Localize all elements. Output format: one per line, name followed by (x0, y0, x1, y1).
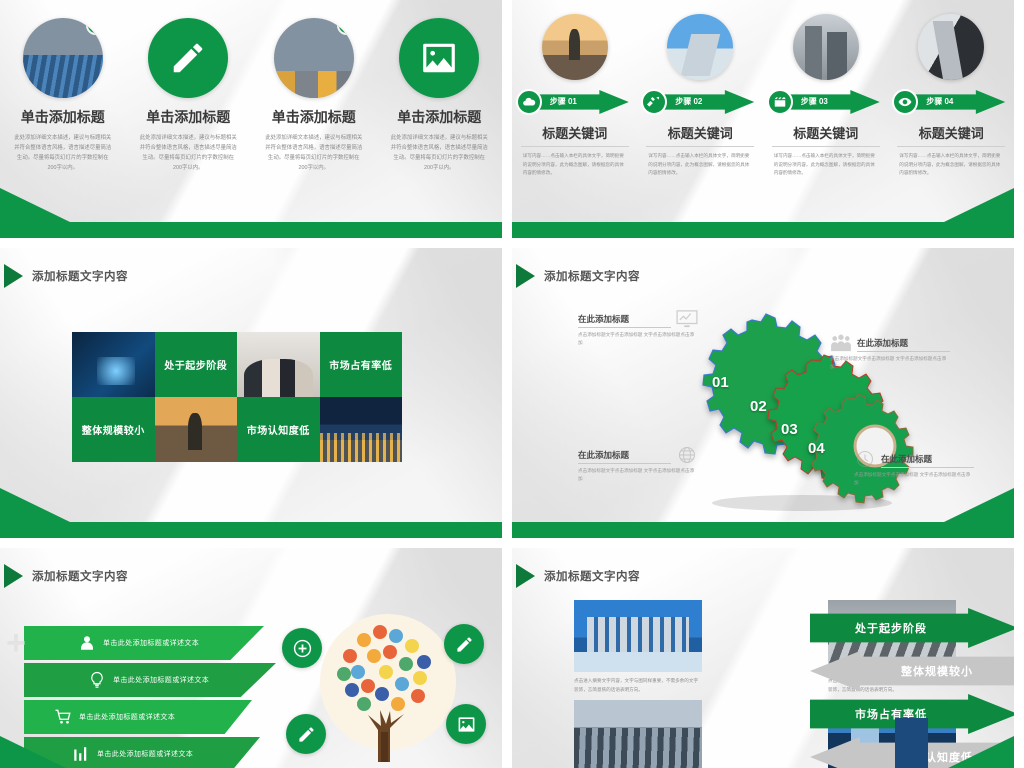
left-column: 点击进入摘要文字内容，文字与图同样重要，不需多余的文字装饰，言简意赅的话语表明方… (574, 600, 702, 768)
bar-label: 单击此处添加标题或详述文本 (79, 712, 175, 722)
divider (897, 146, 1005, 147)
person-icon (78, 634, 96, 652)
slide-5-bars-tree[interactable]: 添加标题文字内容 单击此处添加标题或详述文本 单击此处添加标题或详述文本 单击此… (0, 548, 502, 768)
gear-label-top-right[interactable]: 在此添加标题 点击添加标题文字点击添加标题 文字点击添加标题点击添加 (830, 334, 950, 372)
bar-label: 单击此处添加标题或详述文本 (113, 675, 209, 685)
page-title: 添加标题文字内容 (544, 268, 640, 284)
divider (646, 146, 754, 147)
photo-skyscrapers[interactable] (793, 14, 859, 80)
bar-item-4[interactable]: 单击此处添加标题或详述文本 (24, 737, 260, 768)
circle-title: 单击添加标题 (397, 107, 481, 127)
circle-body: 此处添加详细文本描述，建议与标题相关并符合整体语言风格，语言描述尽量简洁生动。尽… (264, 133, 364, 173)
badge-number: 2 (337, 18, 354, 35)
step-body: 详写内容……点击输入本栏的具体文字，简明扼要的说明分项内容，此为概念图解，请根据… (648, 152, 752, 178)
eye-icon (892, 89, 918, 115)
step-body: 详写内容……点击输入本栏的具体文字，简明扼要的说明分项内容，此为概念图解，请根据… (523, 152, 627, 178)
photo-night-city[interactable] (320, 397, 403, 462)
clapper-icon (767, 89, 793, 115)
step-body: 详写内容……点击输入本栏的具体文字，简明扼要的说明分项内容，此为概念图解，请根据… (899, 152, 1003, 178)
footer-bar (512, 522, 1014, 538)
step-title: 标题关键词 (542, 123, 607, 142)
pencil-icon[interactable] (444, 624, 484, 664)
step-arrow[interactable]: 步骤 02 (641, 87, 759, 117)
arrow-startup-stage[interactable]: 处于起步阶段 (810, 608, 1014, 648)
bulb-icon (88, 671, 106, 689)
pencil-icon[interactable] (286, 714, 326, 754)
bar-label: 单击此处添加标题或详述文本 (103, 638, 199, 648)
plus-mark: + (6, 626, 26, 660)
image-icon[interactable] (399, 18, 479, 98)
triangle-icon (4, 564, 23, 588)
step-body: 详写内容……点击输入本栏的具体文字，简明扼要的说明分项内容，此为概念图解，请根据… (774, 152, 878, 178)
photo-modern-building[interactable] (667, 14, 733, 80)
footer-bar (0, 222, 502, 238)
tile-startup-stage[interactable]: 处于起步阶段 (155, 332, 238, 397)
gear-label-title: 在此添加标题 (578, 449, 671, 464)
step-arrow[interactable]: 步骤 03 (767, 87, 885, 117)
gear-label-bottom-right[interactable]: 在此添加标题 点击添加标题文字点击添加标题 文字点击添加标题点击添加 (854, 450, 974, 488)
globe-icon (676, 446, 698, 464)
circle-body: 此处添加详细文本描述，建议与标题相关并符合整体语言风格，语言描述尽量简洁生动。尽… (138, 133, 238, 173)
step-title: 标题关键词 (919, 123, 984, 142)
bar-item-2[interactable]: 单击此处添加标题或详述文本 (24, 663, 276, 697)
gear-label-body: 点击添加标题文字点击添加标题 文字点击添加标题点击添加 (854, 471, 974, 488)
circle-item-4[interactable]: 单击添加标题 此处添加详细文本描述，建议与标题相关并符合整体语言风格，语言描述尽… (377, 18, 503, 173)
people-group-icon (830, 334, 852, 352)
slide-title-block: 添加标题文字内容 (12, 564, 128, 588)
step-row: 步骤 01 标题关键词 详写内容……点击输入本栏的具体文字，简明扼要的说明分项内… (512, 14, 1014, 178)
gear-label-title: 在此添加标题 (881, 453, 974, 468)
cart-icon (54, 708, 72, 726)
footer-bar (0, 522, 502, 538)
slide-4-gears[interactable]: 添加标题文字内容 (512, 248, 1014, 538)
page-title: 添加标题文字内容 (32, 568, 128, 584)
step-item-1[interactable]: 步骤 01 标题关键词 详写内容……点击输入本栏的具体文字，简明扼要的说明分项内… (512, 14, 638, 178)
step-item-2[interactable]: 步骤 02 标题关键词 详写内容……点击输入本栏的具体文字，简明扼要的说明分项内… (638, 14, 764, 178)
step-label: 步骤 04 (926, 96, 953, 107)
triangle-icon (516, 264, 535, 288)
step-label: 步骤 01 (550, 96, 577, 107)
slide-title-block: 添加标题文字内容 (12, 264, 128, 288)
tree-illustration (286, 610, 476, 760)
step-item-4[interactable]: 步骤 04 标题关键词 详写内容……点击输入本栏的具体文字，简明扼要的说明分项内… (889, 14, 1015, 178)
divider (521, 146, 629, 147)
step-label: 步骤 03 (801, 96, 828, 107)
slide-1-four-circles[interactable]: 1 单击添加标题 此处添加详细文本描述，建议与标题相关并符合整体语言风格，语言描… (0, 0, 502, 238)
mosaic-grid: 处于起步阶段 市场占有率低 整体规模较小 市场认知度低 (72, 332, 402, 462)
plus-icon[interactable] (282, 628, 322, 668)
tile-small-scale[interactable]: 整体规模较小 (72, 397, 155, 462)
circle-body: 此处添加详细文本描述，建议与标题相关并符合整体语言风格，语言描述尽量简洁生动。尽… (13, 133, 113, 173)
bar-list: 单击此处添加标题或详述文本 单击此处添加标题或详述文本 单击此处添加标题或详述文… (24, 626, 272, 768)
clock-icon (854, 450, 876, 468)
photo-station-roof[interactable] (574, 700, 702, 768)
photo-street[interactable]: 2 (274, 18, 354, 98)
circle-title: 单击添加标题 (21, 107, 105, 127)
gear-label-body: 点击添加标题文字点击添加标题 文字点击添加标题点击添加 (578, 331, 698, 348)
step-item-3[interactable]: 步骤 03 标题关键词 详写内容……点击输入本栏的具体文字，简明扼要的说明分项内… (763, 14, 889, 178)
photo-tower-bw[interactable] (918, 14, 984, 80)
tile-low-awareness[interactable]: 市场认知度低 (237, 397, 320, 462)
footer-bar (512, 222, 1014, 238)
pencil-icon[interactable] (148, 18, 228, 98)
gear-label-top-left[interactable]: 在此添加标题 点击添加标题文字点击添加标题 文字点击添加标题点击添加 (578, 310, 698, 348)
slide-6-comparison-arrows[interactable]: 添加标题文字内容 点击进入摘要文字内容，文字与图同样重要，不需多余的文字装饰，言… (512, 548, 1014, 768)
gear-label-body: 点击添加标题文字点击添加标题 文字点击添加标题点击添加 (830, 355, 950, 372)
circle-title: 单击添加标题 (146, 107, 230, 127)
circle-item-2[interactable]: 单击添加标题 此处添加详细文本描述，建议与标题相关并符合整体语言风格，语言描述尽… (126, 18, 252, 173)
circle-item-1[interactable]: 1 单击添加标题 此处添加详细文本描述，建议与标题相关并符合整体语言风格，语言描… (0, 18, 126, 173)
bar-label: 单击此处添加标题或详述文本 (97, 749, 193, 759)
gear-number-03: 03 (781, 421, 798, 438)
step-title: 标题关键词 (668, 123, 733, 142)
circle-title: 单击添加标题 (272, 107, 356, 127)
page-title: 添加标题文字内容 (544, 568, 640, 584)
slide-2-four-steps[interactable]: 步骤 01 标题关键词 详写内容……点击输入本栏的具体文字，简明扼要的说明分项内… (512, 0, 1014, 238)
photo-solar-panel[interactable]: 1 (23, 18, 103, 98)
tile-low-market-share[interactable]: 市场占有率低 (320, 332, 403, 397)
satellite-icon (641, 89, 667, 115)
photo-man-arms-open[interactable] (155, 397, 238, 462)
gear-label-title: 在此添加标题 (857, 337, 950, 352)
cloud-icon (516, 89, 542, 115)
step-title: 标题关键词 (793, 123, 858, 142)
slide-thumbnail-sheet: 1 单击添加标题 此处添加详细文本描述，建议与标题相关并符合整体语言风格，语言描… (0, 0, 1024, 768)
page-title: 添加标题文字内容 (32, 268, 128, 284)
monitor-chart-icon (676, 310, 698, 328)
left-body-1: 点击进入摘要文字内容，文字与图同样重要，不需多余的文字装饰，言简意赅的话语表明方… (574, 677, 702, 694)
bar-item-1[interactable]: 单击此处添加标题或详述文本 (24, 626, 264, 660)
step-arrow[interactable]: 步骤 01 (516, 87, 634, 117)
bar-item-3[interactable]: 单击此处添加标题或详述文本 (24, 700, 252, 734)
arrow-small-scale[interactable]: 整体规模较小 (810, 651, 1014, 691)
circle-body: 此处添加详细文本描述，建议与标题相关并符合整体语言风格，语言描述尽量简洁生动。尽… (389, 133, 489, 173)
gear-number-01: 01 (712, 374, 729, 391)
circle-row: 1 单击添加标题 此处添加详细文本描述，建议与标题相关并符合整体语言风格，语言描… (0, 18, 502, 173)
slide-title-block: 添加标题文字内容 (524, 264, 640, 288)
step-arrow[interactable]: 步骤 04 (892, 87, 1010, 117)
badge-number: 1 (86, 18, 103, 35)
image-icon[interactable] (446, 704, 486, 744)
photo-marina-skyline[interactable] (574, 600, 702, 672)
slide-3-image-mosaic[interactable]: 添加标题文字内容 处于起步阶段 市场占有率低 整体规模较小 市场认知度低 (0, 248, 502, 538)
gear-number-04: 04 (808, 440, 825, 457)
circle-item-3[interactable]: 2 单击添加标题 此处添加详细文本描述，建议与标题相关并符合整体语言风格，语言描… (251, 18, 377, 173)
chart-icon (72, 745, 90, 763)
step-label: 步骤 02 (675, 96, 702, 107)
gear-label-body: 点击添加标题文字点击添加标题 文字点击添加标题点击添加 (578, 467, 698, 484)
tree-trunk (348, 688, 418, 762)
photo-man-arms-open[interactable] (542, 14, 608, 80)
photo-business-team[interactable] (237, 332, 320, 397)
gear-number-02: 02 (750, 398, 767, 415)
gear-label-bottom-left[interactable]: 在此添加标题 点击添加标题文字点击添加标题 文字点击添加标题点击添加 (578, 446, 698, 484)
triangle-icon (4, 264, 23, 288)
divider (772, 146, 880, 147)
triangle-icon (516, 564, 535, 588)
photo-finger-network[interactable] (72, 332, 155, 397)
slide-title-block: 添加标题文字内容 (524, 564, 640, 588)
gear-label-title: 在此添加标题 (578, 313, 671, 328)
